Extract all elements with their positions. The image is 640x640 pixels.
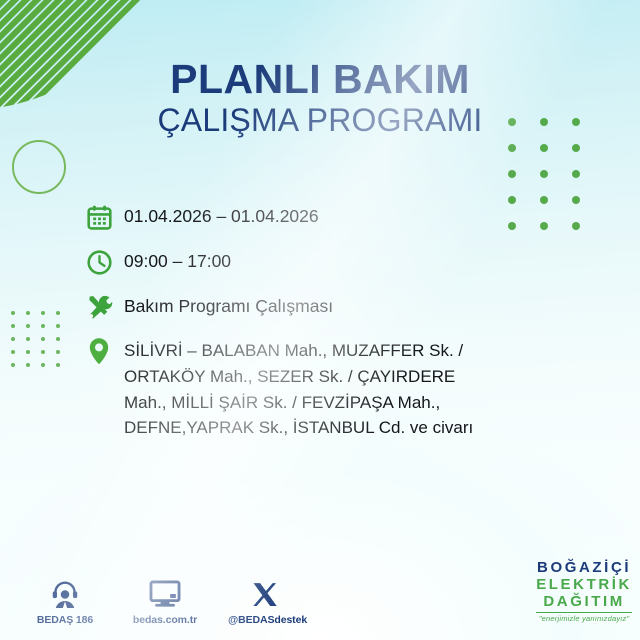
detail-row-time: 09:00 – 17:00 bbox=[86, 245, 594, 279]
time-range-value: 09:00 – 17:00 bbox=[124, 245, 231, 275]
x-twitter-icon bbox=[228, 575, 302, 609]
location-line: DEFNE,YAPRAK Sk., İSTANBUL Cd. ve civarı bbox=[124, 415, 473, 441]
tools-icon bbox=[86, 290, 124, 324]
contact-x-label: @BEDASdestek bbox=[228, 614, 302, 626]
location-line: ORTAKÖY Mah., SEZER Sk. / ÇAYIRDERE bbox=[124, 364, 473, 390]
monitor-icon bbox=[128, 575, 202, 609]
detail-row-location: SİLİVRİ – BALABAN Mah., MUZAFFER Sk. /OR… bbox=[86, 335, 594, 441]
brand-line-2: ELEKTRİK bbox=[536, 577, 632, 592]
title-line-secondary: ÇALIŞMA PROGRAMI bbox=[0, 101, 640, 140]
brand-line-1: BOĞAZİÇİ bbox=[536, 560, 632, 575]
contact-website-label: bedas.com.tr bbox=[128, 614, 202, 626]
contact-phone-label: BEDAŞ 186 bbox=[28, 614, 102, 626]
maintenance-details-list: 01.04.2026 – 01.04.2026 09:00 – 17:00 Ba… bbox=[86, 200, 594, 452]
work-type-value: Bakım Programı Çalışması bbox=[124, 290, 333, 320]
location-line: Mah., MİLLİ ŞAİR Sk. / FEVZİPAŞA Mah., bbox=[124, 390, 473, 416]
detail-row-date: 01.04.2026 – 01.04.2026 bbox=[86, 200, 594, 234]
brand-divider bbox=[536, 612, 632, 613]
dot-grid-left-decoration bbox=[11, 311, 71, 376]
footer: BEDAŞ 186 bedas.com.tr bbox=[0, 554, 640, 640]
location-line: SİLİVRİ – BALABAN Mah., MUZAFFER Sk. / bbox=[124, 338, 473, 364]
brand-line-3: DAĞITIM bbox=[536, 594, 632, 609]
circle-outline-decoration bbox=[12, 140, 66, 194]
date-range-value: 01.04.2026 – 01.04.2026 bbox=[124, 200, 319, 230]
contact-website[interactable]: bedas.com.tr bbox=[128, 575, 202, 626]
detail-row-work-type: Bakım Programı Çalışması bbox=[86, 290, 594, 324]
contact-channels: BEDAŞ 186 bedas.com.tr bbox=[28, 575, 302, 626]
page-title: PLANLI BAKIM ÇALIŞMA PROGRAMI bbox=[0, 58, 640, 140]
brand-tagline: "enerjimizle yanınızdayız" bbox=[536, 615, 632, 623]
title-line-primary: PLANLI BAKIM bbox=[0, 58, 640, 101]
contact-phone[interactable]: BEDAŞ 186 bbox=[28, 575, 102, 626]
location-value: SİLİVRİ – BALABAN Mah., MUZAFFER Sk. /OR… bbox=[124, 335, 473, 441]
support-agent-icon bbox=[28, 575, 102, 609]
contact-x-social[interactable]: @BEDASdestek bbox=[228, 575, 302, 626]
map-pin-icon bbox=[86, 335, 124, 369]
company-logo: BOĞAZİÇİ ELEKTRİK DAĞITIM "enerjimizle y… bbox=[536, 560, 632, 623]
clock-icon bbox=[86, 245, 124, 279]
planned-maintenance-poster: PLANLI BAKIM ÇALIŞMA PROGRAMI 01 bbox=[0, 0, 640, 640]
calendar-icon bbox=[86, 200, 124, 234]
